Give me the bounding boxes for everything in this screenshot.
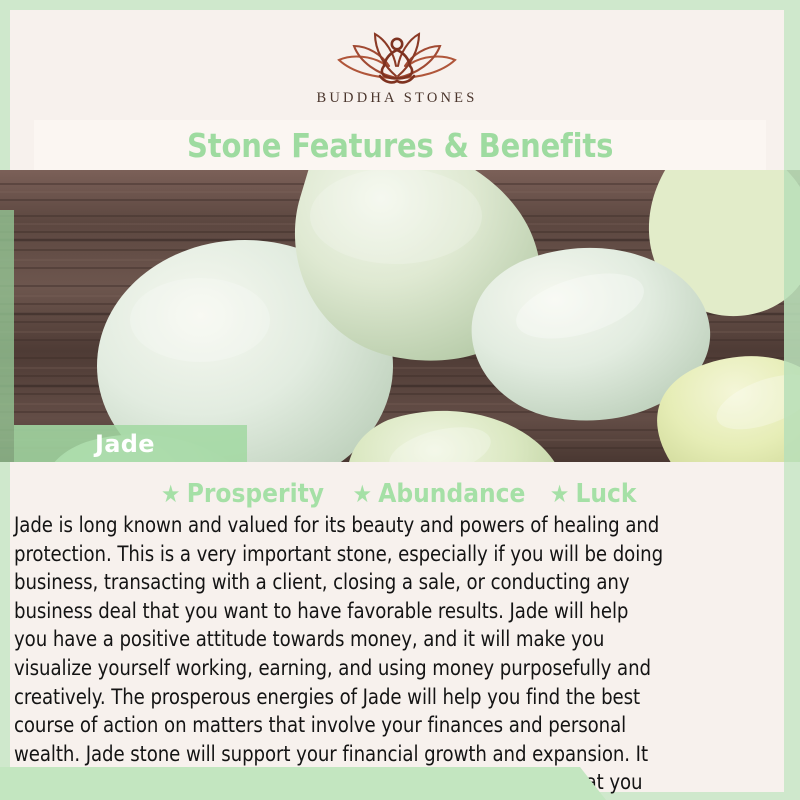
stone-name-band: Jade — [14, 425, 247, 462]
benefit-item-abundance: ★ Abundance — [353, 479, 526, 509]
benefit-item-luck: ★ Luck — [550, 479, 637, 509]
benefits-row: ★ Prosperity ★ Abundance ★ Luck — [10, 478, 784, 510]
photo-accent-bar-right — [784, 170, 800, 462]
benefit-label: Prosperity — [187, 479, 324, 509]
benefit-label: Luck — [576, 479, 637, 509]
stone-benefits-infographic: BUDDHA STONES Stone Features & Benefits — [0, 0, 800, 800]
stone-photo — [0, 170, 800, 462]
stone-name-label: Jade — [95, 430, 155, 458]
stone-description: Jade is long known and valued for its be… — [14, 512, 666, 800]
brand-header: BUDDHA STONES — [10, 10, 784, 122]
brand-name: BUDDHA STONES — [317, 90, 478, 107]
benefit-label: Abundance — [379, 479, 526, 509]
title-banner: Stone Features & Benefits — [34, 120, 766, 170]
star-icon: ★ — [550, 482, 569, 506]
lotus-meditation-icon — [322, 24, 472, 86]
star-icon: ★ — [161, 482, 180, 506]
frame-border-top — [0, 0, 800, 10]
photo-accent-bar-left — [0, 210, 14, 462]
bottom-accent-band — [0, 767, 606, 800]
benefit-item-prosperity: ★ Prosperity — [161, 479, 324, 509]
star-icon: ★ — [353, 482, 372, 506]
page-title: Stone Features & Benefits — [187, 126, 613, 165]
